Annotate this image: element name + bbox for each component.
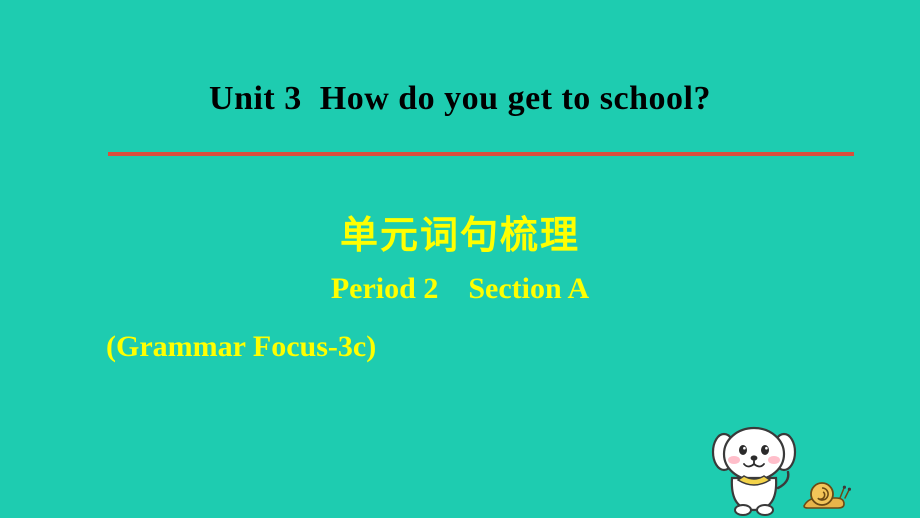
dog-mascot-icon (694, 418, 814, 518)
page-title: Unit 3 How do you get to school? (0, 80, 920, 118)
snail-icon (800, 478, 852, 512)
subtitle-period-section: Period 2 Section A (0, 272, 920, 306)
subtitle-grammar-focus: (Grammar Focus-3c) (106, 330, 866, 364)
slide-canvas: Unit 3 How do you get to school? 单元词句梳理 … (0, 0, 920, 518)
title-divider (108, 152, 854, 156)
subtitle-chinese: 单元词句梳理 (0, 204, 920, 259)
